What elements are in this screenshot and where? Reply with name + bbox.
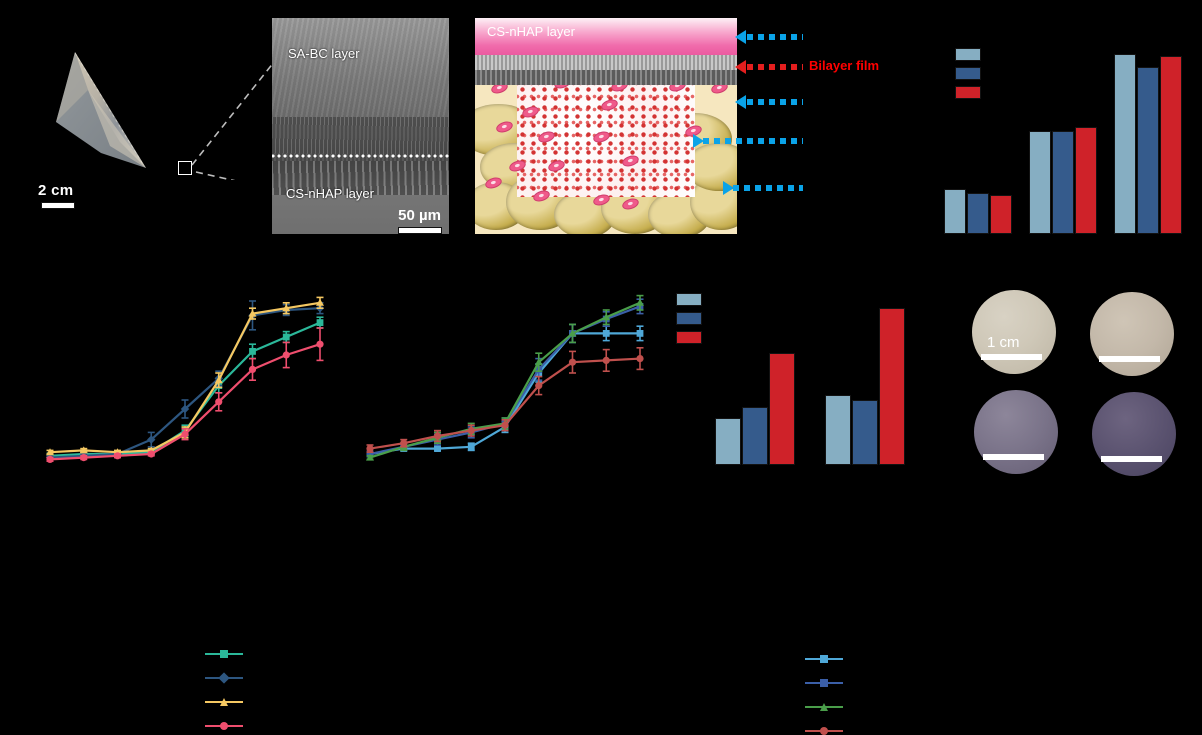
legend-marker — [820, 727, 828, 735]
scale-bar-1cm-bar — [981, 354, 1041, 360]
line-bm-plotarea — [360, 283, 650, 463]
error-bar-cap — [888, 302, 896, 304]
chart-line-bottom-middle — [350, 275, 670, 501]
error-bar — [1170, 41, 1172, 56]
error-bar — [1124, 49, 1126, 54]
bar — [1160, 56, 1182, 234]
bar — [944, 189, 966, 234]
legend-marker — [220, 650, 228, 658]
disk-4-scale-bar — [1101, 456, 1161, 462]
sa-bc-layer-band-2 — [475, 70, 737, 85]
cs-nhap-layer-label: CS-nHAP layer — [487, 24, 575, 39]
error-bar-cap — [997, 188, 1005, 190]
scale-bar-50um-bar — [398, 227, 442, 234]
error-bar — [1147, 50, 1149, 67]
error-bar — [1000, 190, 1002, 195]
legend-swatch — [676, 331, 702, 344]
line-series-group — [40, 283, 330, 463]
error-bar — [1062, 125, 1064, 131]
legend-swatch — [676, 312, 702, 325]
error-bar-cap — [834, 386, 842, 388]
legend-marker — [220, 722, 228, 730]
error-bar — [891, 304, 893, 308]
error-bar — [781, 348, 783, 353]
error-bar — [1085, 122, 1087, 127]
disk-2-scale-bar — [1099, 356, 1159, 362]
scale-bar-50um: 50 µm — [398, 207, 441, 224]
error-bar — [954, 185, 956, 189]
sem-upper-texture — [272, 18, 449, 117]
error-bar — [977, 187, 979, 193]
line-series-group — [360, 283, 650, 463]
panel-disk-photographs: 1 cm — [952, 282, 1202, 501]
interface-dotted-line — [272, 154, 449, 158]
bar — [742, 407, 768, 465]
disk-sample-3 — [974, 390, 1058, 474]
legend-swatch — [955, 67, 981, 80]
cs-nhap-layer-band: CS-nHAP layer — [475, 18, 737, 55]
bar — [1075, 127, 1097, 234]
scale-bar-1cm-label: 1 cm — [987, 334, 1020, 351]
bar-br-plotarea — [700, 290, 920, 465]
chart-bar-bottom-right — [660, 275, 940, 501]
legend-marker — [220, 698, 228, 706]
bar — [967, 193, 989, 234]
legend-marker — [820, 679, 828, 687]
error-bar-cap — [778, 346, 786, 348]
disk-sample-1: 1 cm — [972, 290, 1056, 374]
legend-swatch — [676, 293, 702, 306]
bar — [715, 418, 741, 465]
disk-sample-2 — [1090, 292, 1174, 376]
bar — [879, 308, 905, 466]
chart-bar-top-right — [900, 10, 1202, 250]
legend-marker — [218, 672, 229, 683]
error-bar — [837, 388, 839, 395]
disk-3-scale-bar — [983, 454, 1043, 460]
error-bar-cap — [861, 388, 869, 390]
error-bar-cap — [1036, 124, 1044, 126]
scale-bar-2cm-bar — [41, 202, 75, 209]
bar — [852, 400, 878, 465]
bar — [990, 195, 1012, 234]
legend-marker — [820, 655, 828, 663]
scale-bar-2cm: 2 cm — [38, 182, 73, 199]
panel-sem-cross-section: SA-BC layer CS-nHAP layer 50 µm — [272, 18, 449, 234]
scale-bar-2cm-label: 2 cm — [38, 182, 73, 199]
panel-bone-schematic: CS-nHAP layer — [475, 18, 737, 234]
sem-label-cs-nhap: CS-nHAP layer — [286, 186, 374, 201]
leader-lines — [186, 60, 281, 180]
error-bar — [864, 390, 866, 401]
error-bar-cap — [1167, 40, 1175, 42]
chart-line-bottom-left — [30, 275, 350, 501]
bar — [1137, 67, 1159, 234]
legend-swatch — [955, 86, 981, 99]
sem-label-sa-bc: SA-BC layer — [288, 46, 360, 61]
bar — [1029, 131, 1051, 234]
sa-bc-layer-band — [475, 55, 737, 70]
error-bar-cap — [1121, 47, 1129, 49]
bar — [1114, 54, 1136, 234]
legend-swatch — [955, 48, 981, 61]
bar — [769, 353, 795, 465]
bar — [1052, 131, 1074, 234]
error-bar-cap — [974, 185, 982, 187]
error-bar-cap — [1144, 48, 1152, 50]
scale-bar-50um-label: 50 µm — [398, 207, 441, 224]
error-bar-cap — [1082, 120, 1090, 122]
film-sample-image — [48, 50, 178, 175]
legend-marker — [820, 703, 828, 711]
error-bar — [754, 402, 756, 407]
error-bar — [1039, 126, 1041, 131]
error-bar-cap — [951, 183, 959, 185]
callout-label-bilayer-film: Bilayer film — [809, 58, 879, 73]
panel-film-photograph: 2 cm — [0, 0, 270, 250]
error-bar-cap — [1059, 123, 1067, 125]
bar — [825, 395, 851, 465]
disk-sample-4 — [1092, 392, 1176, 476]
error-bar-cap — [751, 400, 759, 402]
region-of-interest-box — [178, 161, 192, 175]
line-bl-plotarea — [40, 283, 330, 463]
